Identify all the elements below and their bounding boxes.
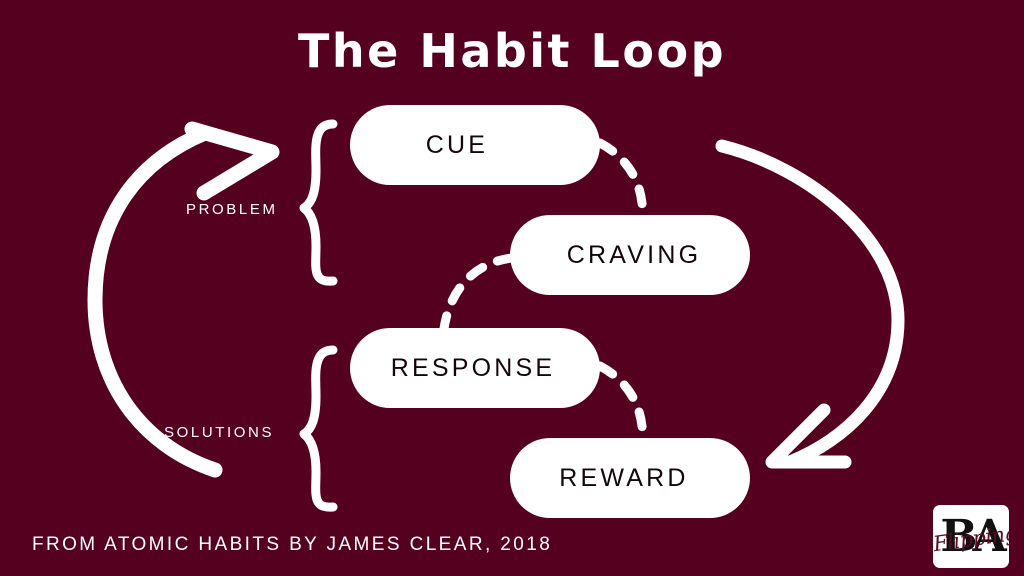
response-to-reward [600,366,643,449]
node-response-label: RESPONSE [391,354,556,383]
node-cue[interactable]: CUE [350,105,600,185]
node-cue-label: CUE [426,131,488,160]
node-reward[interactable]: REWARD [510,438,750,518]
node-craving-label: CRAVING [567,241,701,270]
bracket-label-solutions: SOLUTIONS [164,424,274,441]
habit-loop-infographic: The Habit Loop CUE CRAVING RESPONSE REWA… [0,0,1024,576]
source-caption: FROM ATOMIC HABITS BY JAMES CLEAR, 2018 [32,534,552,556]
brand-logo: BA Flipping [933,505,1009,568]
page-title: The Habit Loop [0,24,1024,78]
brace-problem [304,124,333,281]
brace-solutions [304,350,333,507]
craving-to-response [443,258,512,336]
node-response[interactable]: RESPONSE [350,328,600,408]
cue-to-craving [600,143,643,226]
node-reward-label: REWARD [559,464,688,493]
node-craving[interactable]: CRAVING [510,215,750,295]
bracket-label-problem: PROBLEM [186,201,278,218]
left-loop-arrow [95,129,272,470]
right-loop-arrow [722,146,898,462]
